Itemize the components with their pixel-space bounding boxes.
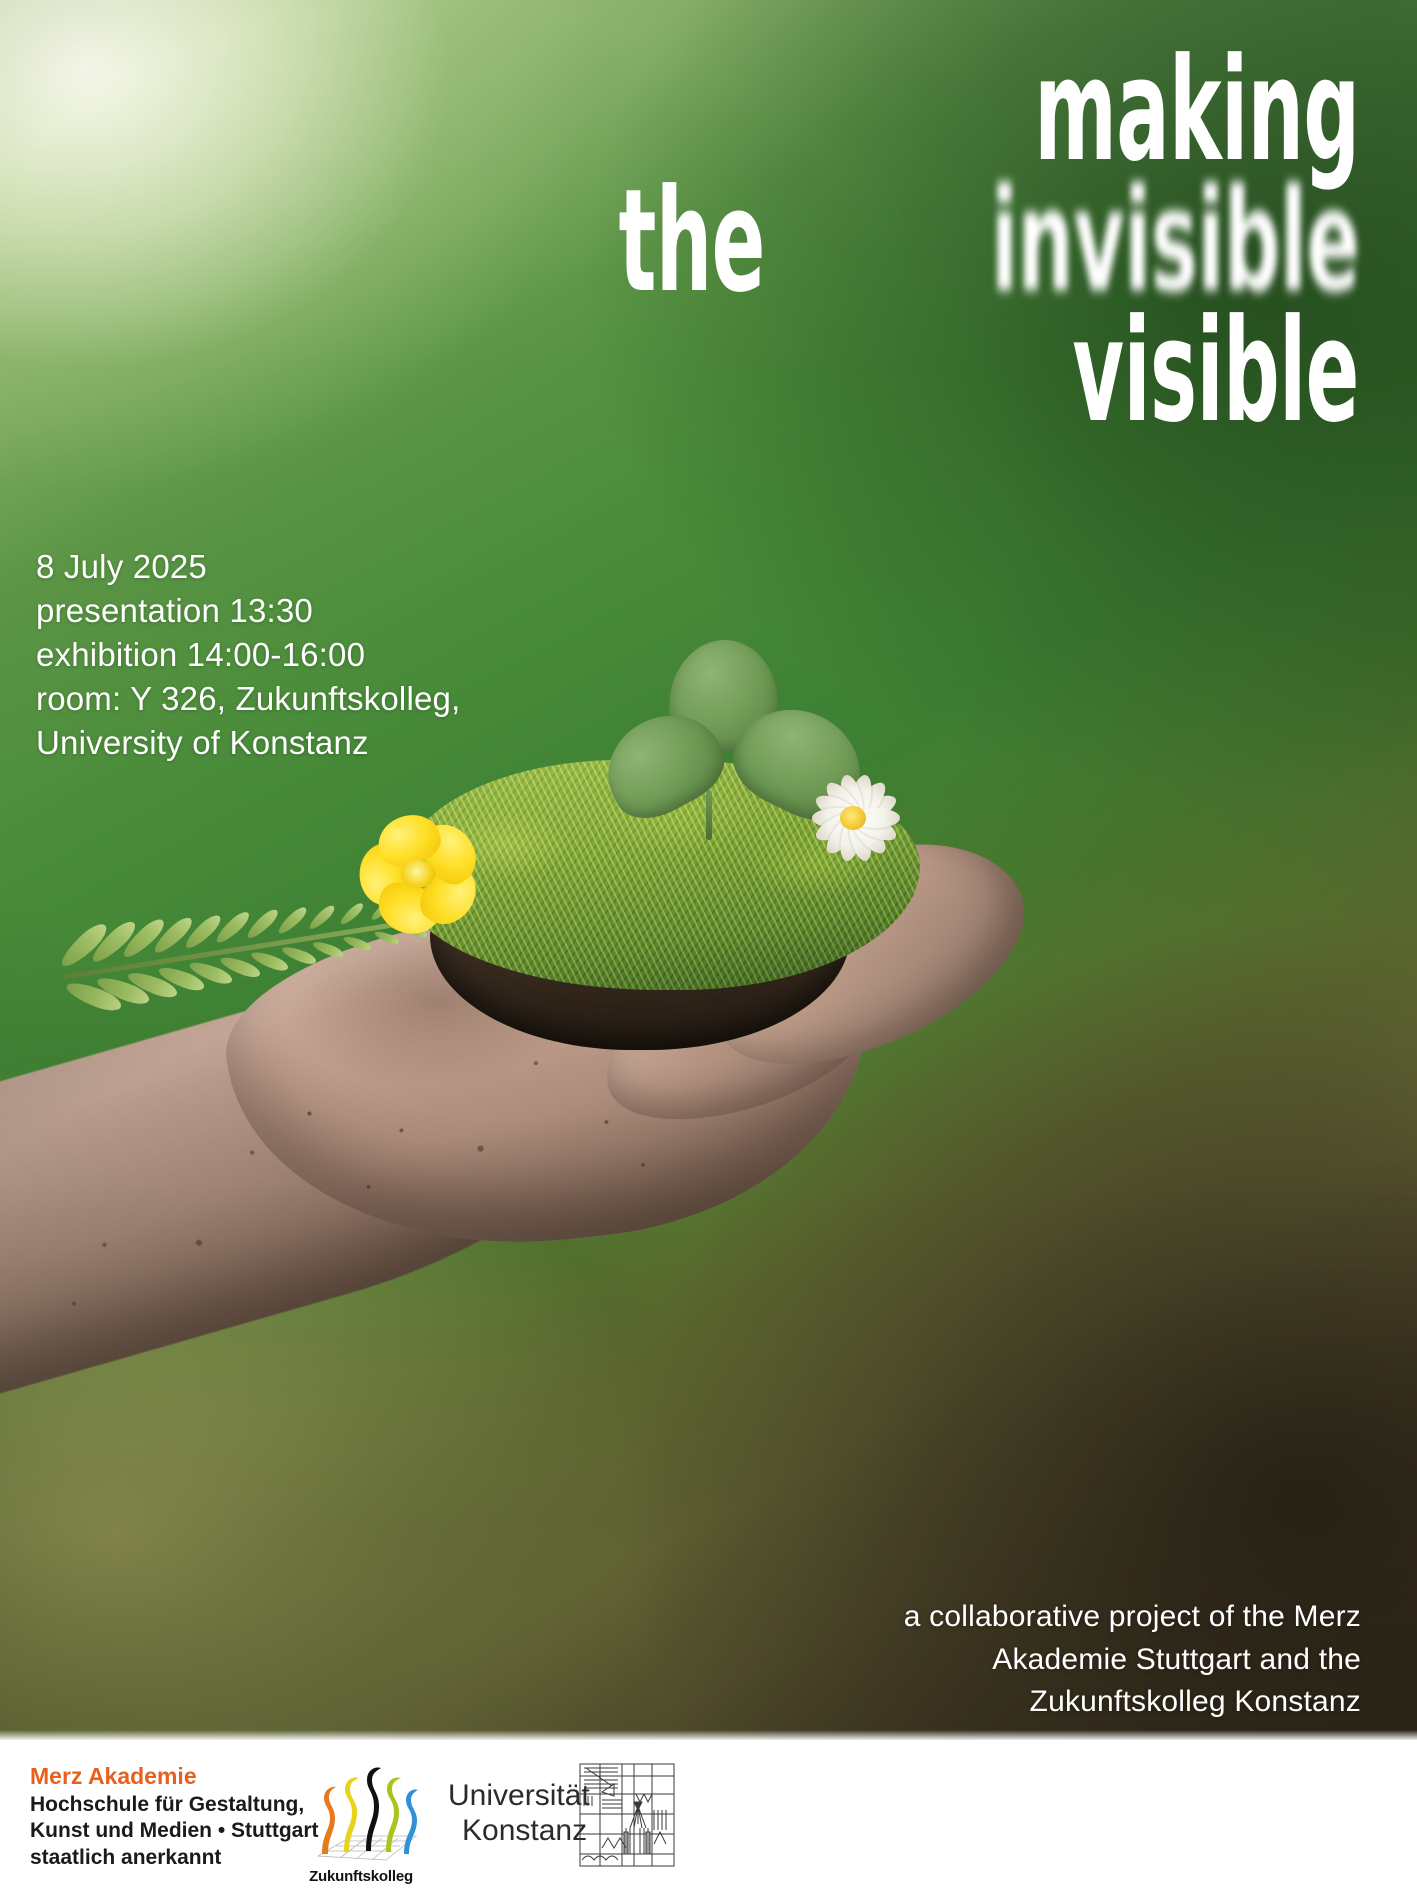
merz-subtitle-line-2: Kunst und Medien • Stuttgart [30,1818,319,1844]
credits-line-1: a collaborative project of the Merz [741,1596,1361,1639]
zukunftskolleg-caption: Zukunftskolleg [303,1868,419,1885]
merz-akademie-logo: Merz Akademie Hochschule für Gestaltung,… [30,1762,319,1871]
headline-word-invisible: invisible [990,177,1359,308]
project-credits: a collaborative project of the Merz Akad… [741,1596,1361,1724]
headline-line-3: visible [319,307,1359,438]
headline-word-visible: visible [1073,307,1359,438]
page-title: making the invisible visible [319,46,1359,438]
event-exhibition-time: exhibition 14:00-16:00 [36,633,460,677]
poster-root: making the invisible visible 8 July 2025… [0,0,1417,1890]
university-konstanz-wordmark: Universität Konstanz [448,1778,590,1849]
headline-word-the: the [618,177,764,308]
headline-line-1: making [319,46,1359,177]
merz-brand-name: Merz Akademie [30,1762,319,1791]
university-konstanz-logo-icon [578,1762,676,1868]
event-room: room: Y 326, Zukunftskolleg, [36,677,460,721]
event-presentation-time: presentation 13:30 [36,589,460,633]
credits-line-3: Zukunftskolleg Konstanz [741,1681,1361,1724]
footer-logos: Merz Akademie Hochschule für Gestaltung,… [0,1740,1417,1890]
event-university: University of Konstanz [36,721,460,765]
event-details: 8 July 2025 presentation 13:30 exhibitio… [36,545,460,764]
merz-subtitle-line-1: Hochschule für Gestaltung, [30,1792,319,1818]
credits-line-2: Akademie Stuttgart and the [741,1639,1361,1682]
unikn-line-1: Universität [448,1778,590,1813]
merz-subtitle-line-3: staatlich anerkannt [30,1845,319,1871]
headline-word-making: making [1034,46,1359,177]
headline-line-2: the invisible [319,177,1359,308]
unikn-line-2: Konstanz [448,1813,590,1848]
event-date: 8 July 2025 [36,545,460,589]
